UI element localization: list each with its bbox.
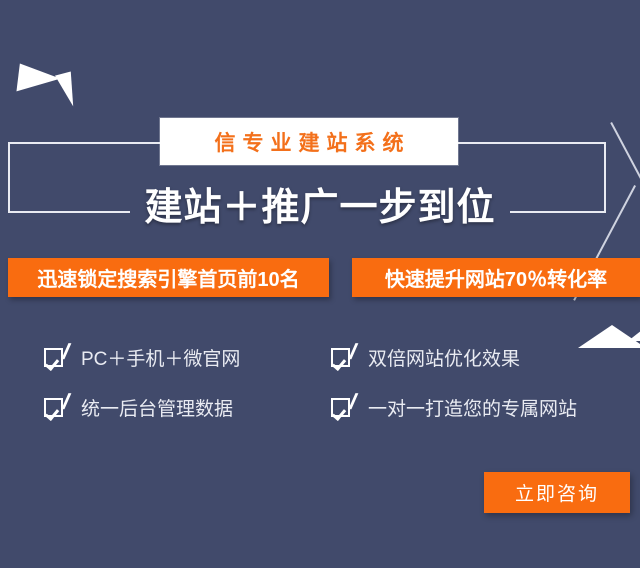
paper-plane-wing-left [16,64,61,97]
feature-item-multi-platform: PC＋手机＋微官网 [44,344,240,371]
badge-seo-ranking-label: 迅速锁定搜索引擎首页前10名 [37,263,299,292]
feature-label: 一对一打造您的专属网站 [368,394,577,421]
paper-plane-wing-right [55,71,73,107]
chip-label: 信专业建站系统 [208,127,411,157]
badge-conversion-rate: 快速提升网站70％转化率 [352,258,640,297]
feature-label: 双倍网站优化效果 [368,344,520,371]
feature-label: PC＋手机＋微官网 [81,344,240,371]
triangle-icon-small [628,330,640,341]
triangle-icon-large [578,325,640,348]
paper-plane-icon [18,66,78,110]
chip-badge: 信专业建站系统 [160,118,458,165]
feature-item-unified-backend: 统一后台管理数据 [44,394,233,421]
page-title: 建站＋推广一步到位 [130,176,509,231]
checkbox-checked-icon [331,398,350,417]
badge-conversion-rate-label: 快速提升网站70％转化率 [385,263,607,292]
feature-label: 统一后台管理数据 [81,394,233,421]
checkbox-checked-icon [44,348,63,367]
promo-banner: 信专业建站系统 建站＋推广一步到位 迅速锁定搜索引擎首页前10名 快速提升网站7… [0,0,640,568]
checkbox-checked-icon [44,398,63,417]
headline-container: 建站＋推广一步到位 [0,176,640,231]
feature-item-double-optimization: 双倍网站优化效果 [331,344,520,371]
badge-seo-ranking: 迅速锁定搜索引擎首页前10名 [8,258,329,297]
feature-item-one-on-one: 一对一打造您的专属网站 [331,394,577,421]
checkbox-checked-icon [331,348,350,367]
consult-now-button[interactable]: 立即咨询 [484,472,630,513]
